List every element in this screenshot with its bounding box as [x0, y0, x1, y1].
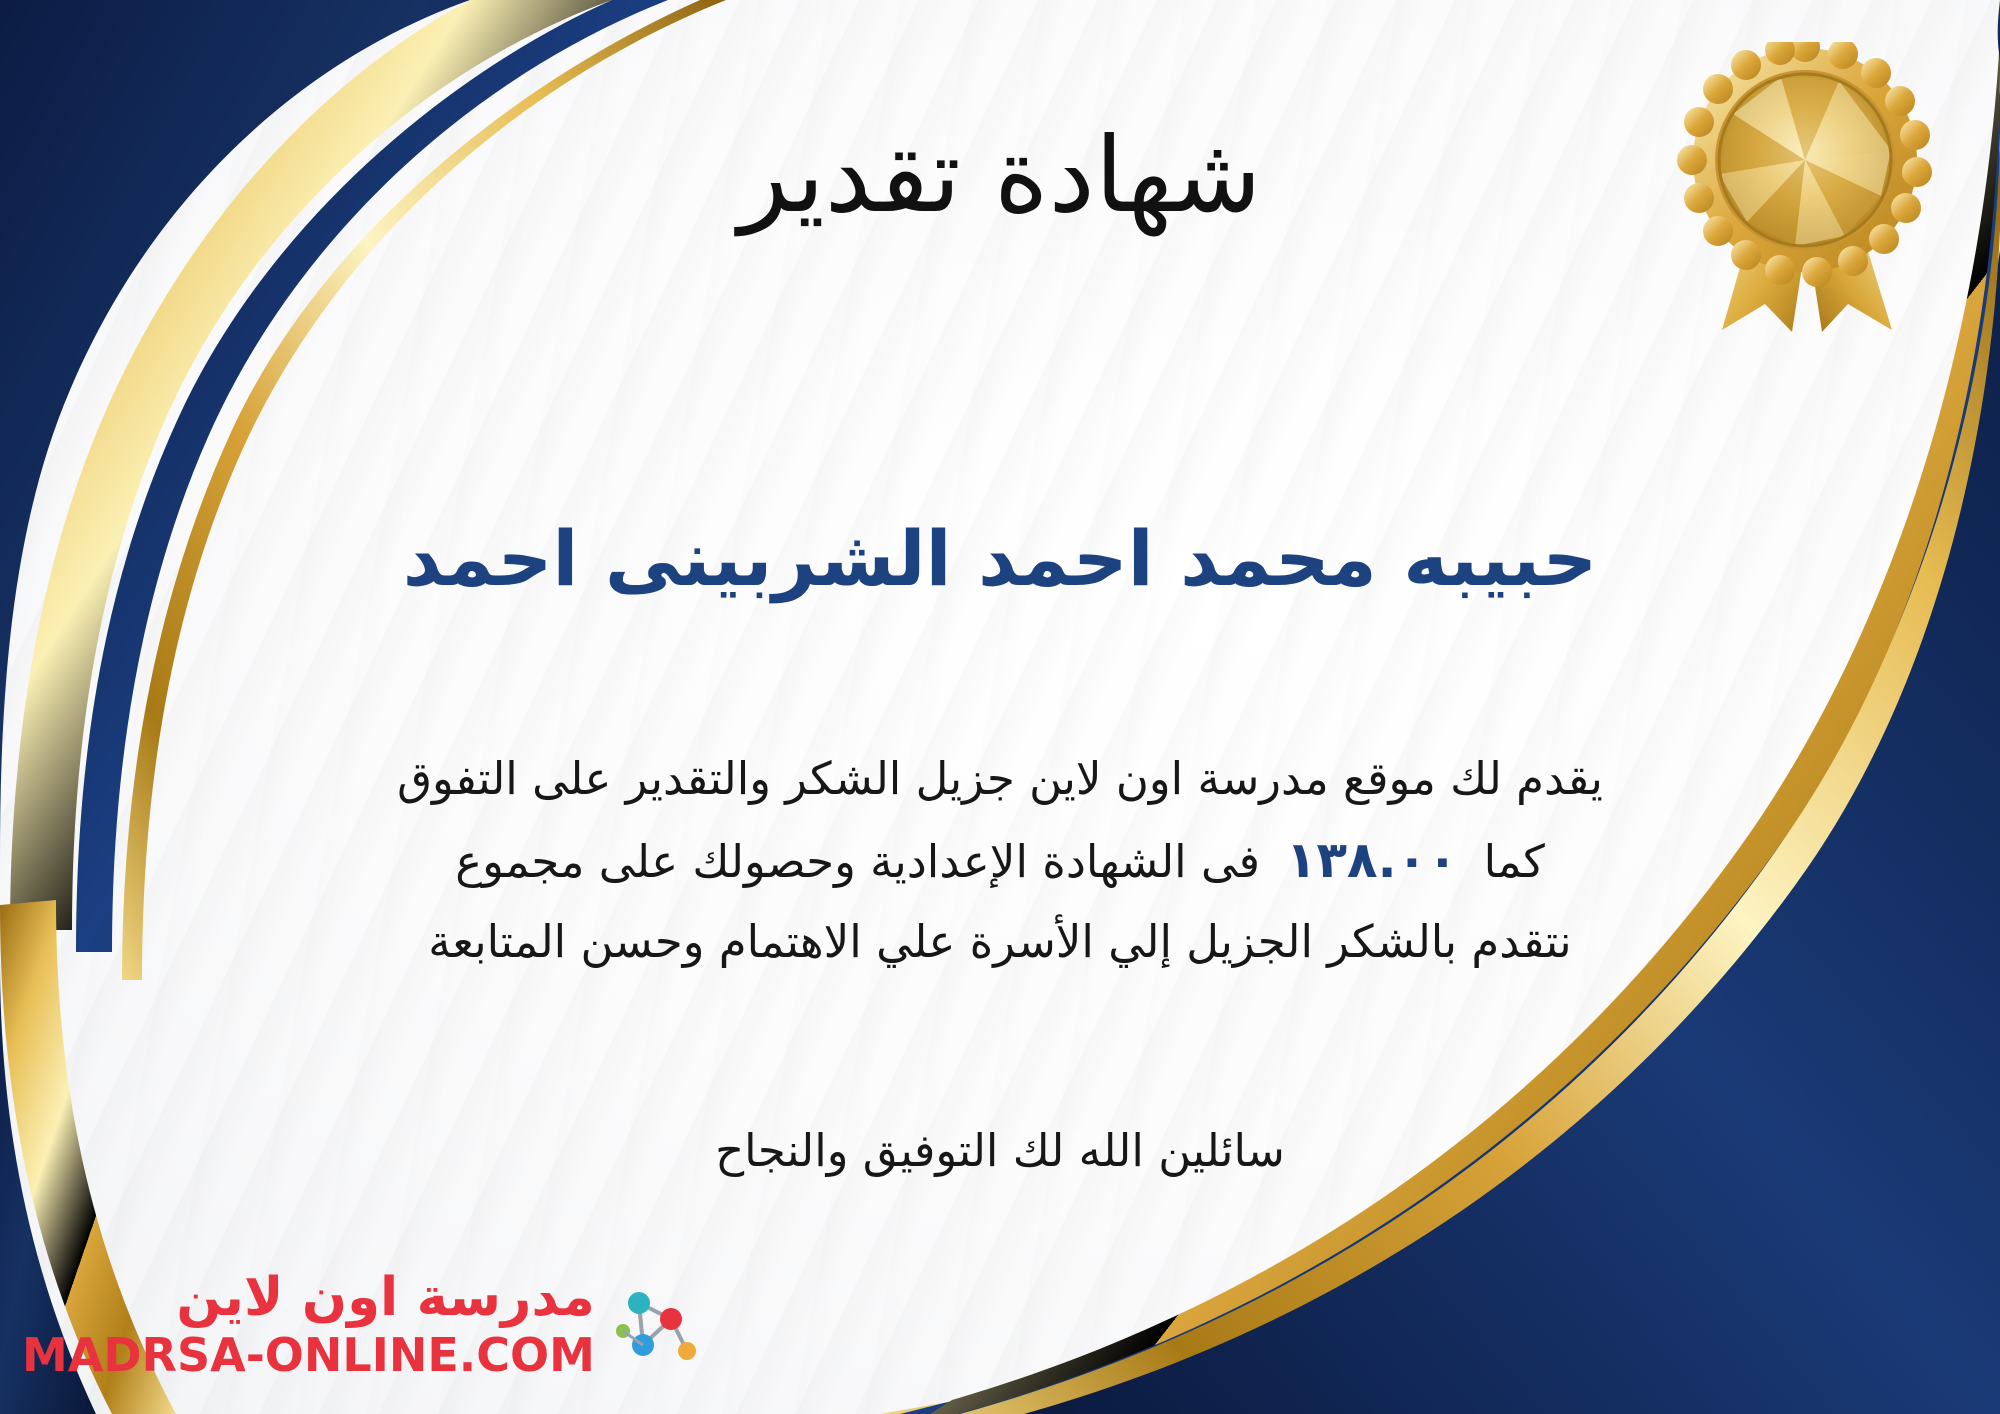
closing-wish: سائلين الله لك التوفيق والنجاح [0, 1115, 2000, 1187]
certificate-title: شهادة تقدير [0, 118, 2000, 232]
site-logo[interactable]: مدرسة اون لاين MADRSA-ONLINE.COM [22, 1271, 701, 1378]
body-line-1: يقدم لك موقع مدرسة اون لاين جزيل الشكر و… [60, 740, 1940, 817]
body-line-2: كما١٣٨.٠٠فى الشهادة الإعدادية وحصولك على… [60, 817, 1940, 903]
certificate-canvas: شهادة تقدير حبيبه محمد احمد الشربينى احم… [0, 0, 2000, 1414]
body-line-2-suffix: كما [1484, 835, 1545, 888]
total-grade-value: ١٣٨.٠٠ [1260, 831, 1484, 889]
recipient-name: حبيبه محمد احمد الشربينى احمد [0, 515, 2000, 602]
logo-arabic-text: مدرسة اون لاين [176, 1271, 595, 1324]
logo-english-text: MADRSA-ONLINE.COM [22, 1332, 595, 1378]
logo-text-group: مدرسة اون لاين MADRSA-ONLINE.COM [22, 1271, 595, 1378]
body-line-3: نتقدم بالشكر الجزيل إلي الأسرة علي الاهت… [60, 903, 1940, 980]
network-nodes-icon [609, 1279, 701, 1371]
certificate-body: يقدم لك موقع مدرسة اون لاين جزيل الشكر و… [60, 740, 1940, 981]
body-line-2-prefix: فى الشهادة الإعدادية وحصولك على مجموع [455, 835, 1260, 888]
certificate-content: شهادة تقدير حبيبه محمد احمد الشربينى احم… [0, 0, 2000, 1414]
